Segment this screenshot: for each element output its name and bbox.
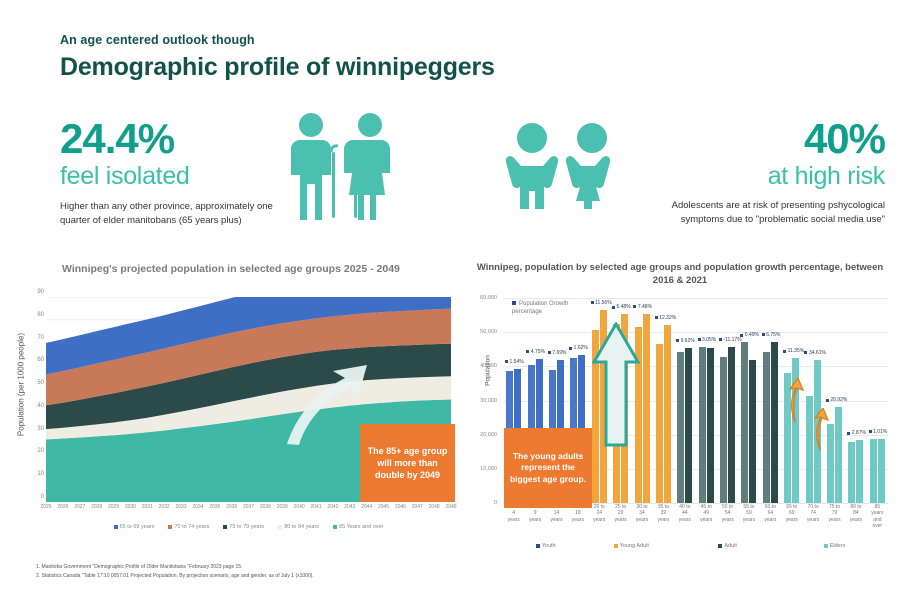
x-tick: 70 to74years [802,504,823,542]
legend-swatch [512,301,516,305]
growth-percentage-label: 2.87% [847,430,866,436]
legend-dot [783,350,786,353]
growth-percentage-label: 7.69% [548,350,567,356]
legend-swatch [614,544,618,548]
children-pair-icon [500,122,625,232]
growth-percentage-label: 3.05% [698,337,717,343]
growth-percentage-label: 11.35% [783,348,804,354]
legend-dot [847,432,850,435]
curved-arrow-icon-2 [810,408,830,455]
left-chart-xaxis: 2025202620272028202920302031203220332034… [46,504,451,518]
bar-2021[interactable] [771,342,778,503]
stat-right-subtitle: at high risk [655,162,885,191]
x-tick: 2036 [226,504,237,510]
y-tick: 30 [37,426,44,432]
bar-group[interactable]: 0.49% [738,298,759,503]
x-tick: 2049 [445,504,456,510]
infographic-page: An age centered outlook though Demograph… [0,0,900,600]
x-tick: 2039 [277,504,288,510]
elderly-couple-icon [278,112,408,229]
x-tick: 60 to64years [760,504,781,542]
legend-dot [762,333,765,336]
up-arrow-icon [592,322,640,452]
legend-swatch [333,525,337,529]
x-tick: 2025 [40,504,51,510]
stat-left-body: Higher than any other province, approxim… [60,200,280,228]
bar-2021[interactable] [728,347,735,503]
growth-percentage-label: 20.92% [826,397,847,403]
legend-item[interactable]: 75 to 79 years [223,524,264,530]
legend-dot [826,399,829,402]
legend-dot [569,347,572,350]
right-chart-xaxis: 0 to4years5 to9years10 to14years15 to19y… [503,504,888,542]
growth-percentage-legend: Population Growth percentage [512,300,582,317]
legend-swatch [536,544,540,548]
bar-group[interactable]: 1.01% [867,298,888,503]
growth-percentage-label: 34.61% [804,350,825,356]
y-tick: 50 [37,380,44,386]
x-tick: 35 to39years [653,504,674,542]
growth-percentage-label: 11.56% [591,300,612,306]
x-tick: 65 to69years [781,504,802,542]
legend-swatch [168,525,172,529]
stat-right-body: Adolescents are at risk of presenting ps… [655,199,885,227]
x-tick: 0 to4years [503,504,524,542]
legend-dot [804,351,807,354]
stat-right-number: 40% [655,118,885,160]
bar-2021[interactable] [856,440,863,503]
x-tick: 20 to24years [589,504,610,542]
legend-swatch [824,544,828,548]
growth-legend-label: Population Growth percentage [512,301,568,315]
y-tick: 90 [37,289,44,295]
legend-item[interactable]: 70 to 74 years [168,524,209,530]
bar-2016[interactable] [699,347,706,503]
legend-dot [505,360,508,363]
bar-2016[interactable] [656,344,663,503]
page-kicker: An age centered outlook though [60,33,255,47]
y-tick: 10 [37,471,44,477]
bar-2016[interactable] [870,439,877,503]
legend-dot [655,316,658,319]
x-tick: 10 to14years [546,504,567,542]
x-tick: 5 to9years [524,504,545,542]
x-tick: 2027 [74,504,85,510]
bar-2021[interactable] [878,439,885,503]
x-tick: 75 to79years [824,504,845,542]
legend-item[interactable]: Young Adult [589,543,675,549]
bar-2021[interactable] [664,325,671,503]
x-tick: 80 to84years [845,504,866,542]
right-bar-chart: Population 010,00020,00030,00040,00050,0… [465,292,895,557]
x-tick: 2040 [294,504,305,510]
x-tick: 2043 [344,504,355,510]
y-tick: 30,000 [480,398,497,404]
left-area-chart: Population (per 1000 people) 01020304050… [8,292,460,547]
y-tick: 40,000 [480,363,497,369]
bar-2021[interactable] [749,360,756,503]
growth-percentage-label: 7.48% [633,304,652,310]
bar-2016[interactable] [720,357,727,503]
x-tick: 2042 [327,504,338,510]
y-tick: 40 [37,403,44,409]
x-tick: 85yearsandover [867,504,888,542]
growth-percentage-label: 5.48% [612,304,631,310]
right-chart-yaxis: 010,00020,00030,00040,00050,00060,000 [465,292,499,503]
x-tick: 2030 [125,504,136,510]
x-tick: 25 to29years [610,504,631,542]
callout-right: The young adults represent the biggest a… [504,428,592,508]
legend-swatch [223,525,227,529]
bar-group[interactable]: -11.17% [717,298,738,503]
legend-dot [676,339,679,342]
right-chart-legend: YouthYoung AdultAdultElders [503,543,888,549]
stat-block-isolation: 24.4% feel isolated Higher than any othe… [60,118,280,227]
y-tick: 10,000 [480,466,497,472]
growth-percentage-label: 1.01% [869,429,888,435]
x-tick: 40 to44years [674,504,695,542]
growth-percentage-label: 9.62% [676,338,695,344]
x-tick: 2026 [57,504,68,510]
x-tick: 30 to34years [631,504,652,542]
footnote-2: 2. Statistics Canada "Table 17:10 0057:0… [36,572,314,581]
growth-percentage-label: 12.32% [655,315,676,321]
y-tick: 80 [37,312,44,318]
bar-2016[interactable] [741,342,748,503]
footnote-1: 1. Manitoba Government "Demographic Prof… [36,563,314,572]
right-chart-title: Winnipeg, population by selected age gro… [470,261,890,288]
stat-left-number: 24.4% [60,118,280,160]
stat-block-risk: 40% at high risk Adolescents are at risk… [655,118,885,226]
bar-2021[interactable] [643,314,650,503]
legend-item[interactable]: Elders [781,543,888,549]
growth-percentage-label: 1.62% [569,345,588,351]
bar-2016[interactable] [677,352,684,503]
x-tick: 2048 [429,504,440,510]
bar-2021[interactable] [707,348,714,503]
x-tick: 2035 [209,504,220,510]
x-tick: 2046 [395,504,406,510]
x-tick: 2041 [310,504,321,510]
bar-group[interactable]: 9.62% [674,298,695,503]
legend-dot [612,306,615,309]
x-tick: 2044 [361,504,372,510]
x-tick: 50 to54years [717,504,738,542]
legend-dot [719,338,722,341]
legend-dot [633,305,636,308]
bar-group[interactable]: 3.05% [696,298,717,503]
growth-percentage-label: 1.54% [505,359,524,365]
x-tick: 2032 [159,504,170,510]
left-chart-yaxis: 0102030405060708090 [16,292,46,502]
x-tick: 2029 [108,504,119,510]
bar-group[interactable]: 34.61% [802,298,823,503]
legend-dot [740,334,743,337]
legend-item[interactable]: 80 to 84 years [278,524,319,530]
y-tick: 0 [41,494,44,500]
bar-group[interactable]: 6.75% [760,298,781,503]
bar-group[interactable]: 2.87% [845,298,866,503]
y-tick: 60 [37,357,44,363]
y-tick: 20 [37,448,44,454]
x-tick: 2045 [378,504,389,510]
legend-dot [698,338,701,341]
legend-dot [869,430,872,433]
footnotes: 1. Manitoba Government "Demographic Prof… [36,563,314,580]
bar-2021[interactable] [685,348,692,503]
legend-item[interactable]: 65 to 69 years [114,524,155,530]
stat-left-subtitle: feel isolated [60,162,280,191]
bar-2021[interactable] [835,407,842,503]
y-tick: 50,000 [480,329,497,335]
legend-dot [591,301,594,304]
bar-2016[interactable] [848,442,855,503]
y-tick: 60,000 [480,295,497,301]
x-tick: 55 to59years [738,504,759,542]
page-title: Demographic profile of winnipeggers [60,53,495,82]
x-tick: 2037 [243,504,254,510]
legend-swatch [114,525,118,529]
y-tick: 70 [37,335,44,341]
x-tick: 2047 [412,504,423,510]
growth-percentage-label: 6.75% [762,332,781,338]
legend-item[interactable]: 85 Years and over [333,524,383,530]
curved-arrow-icon-1 [785,378,805,428]
x-tick: 2034 [192,504,203,510]
legend-item[interactable]: Youth [503,543,589,549]
x-tick: 2031 [142,504,153,510]
bar-2016[interactable] [763,352,770,503]
bar-group[interactable]: 12.32% [653,298,674,503]
callout-left: The 85+ age group will more than double … [360,424,455,502]
growth-percentage-label: 4.75% [526,349,545,355]
legend-dot [526,350,529,353]
legend-item[interactable]: Adult [674,543,781,549]
y-tick: 0 [494,500,497,506]
legend-dot [548,351,551,354]
left-chart-legend: 65 to 69 years70 to 74 years75 to 79 yea… [46,524,451,530]
x-tick: 2033 [175,504,186,510]
left-chart-title: Winnipeg's projected population in selec… [62,263,400,275]
bar-group[interactable]: 20.92% [824,298,845,503]
legend-swatch [718,544,722,548]
x-tick: 2038 [260,504,271,510]
x-tick: 15 to19years [567,504,588,542]
x-tick: 2028 [91,504,102,510]
x-tick: 45 to49years [696,504,717,542]
growth-percentage-label: 0.49% [740,332,759,338]
legend-swatch [278,525,282,529]
y-tick: 20,000 [480,432,497,438]
